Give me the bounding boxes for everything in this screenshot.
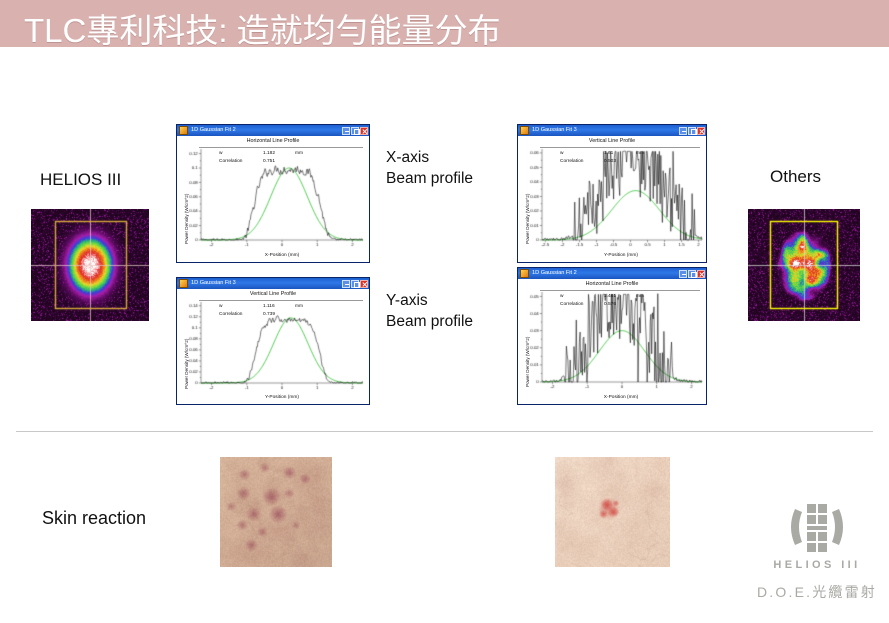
close-icon[interactable] [360, 280, 368, 288]
label-x-axis-profile-line2: Beam profile [386, 168, 473, 189]
stat-w-value: 1.116 [263, 304, 275, 309]
skin-photo-right [555, 457, 670, 567]
x-axis-label: X-Position (mm) [540, 395, 702, 400]
logo-text-secondary: D.O.E.光纜雷射 [745, 582, 889, 602]
stat-corr-label: Correlation [219, 312, 242, 317]
window-titlebar[interactable]: 1D Gaussian Fit 2 [177, 125, 369, 136]
window-buttons[interactable] [679, 127, 705, 135]
stat-w-value: 1.182 [263, 151, 275, 156]
section-divider [16, 431, 873, 432]
app-icon [520, 269, 529, 278]
stat-corr-label: Correlation [219, 159, 242, 164]
chart-area: Horizontal Line Profile w 1.182 mm Corre… [177, 136, 369, 262]
maximize-icon[interactable] [351, 127, 359, 135]
close-icon[interactable] [697, 127, 705, 135]
window-buttons[interactable] [679, 270, 705, 278]
chart-area: Vertical Line Profile w 1.116 mm Correla… [177, 289, 369, 404]
chart-area: Horizontal Line Profile w 1.481 mm Corre… [518, 279, 706, 404]
stat-w-label: w [219, 151, 222, 156]
maximize-icon[interactable] [688, 127, 696, 135]
window-title: 1D Gaussian Fit 3 [532, 125, 679, 136]
maximize-icon[interactable] [688, 270, 696, 278]
chart-window-bottom-right[interactable]: 1D Gaussian Fit 2 Horizontal Line Profil… [517, 267, 707, 405]
stat-corr-value: 0.576 [604, 302, 616, 307]
x-axis-label: Y-Position (mm) [199, 395, 365, 400]
minimize-icon[interactable] [342, 280, 350, 288]
beam-image-helios [31, 209, 149, 321]
stat-w-label: w [560, 294, 563, 299]
maximize-icon[interactable] [351, 280, 359, 288]
minimize-icon[interactable] [679, 127, 687, 135]
label-y-axis-profile-line1: Y-axis [386, 290, 428, 311]
stat-w-label: w [219, 304, 222, 309]
helios-mark-icon [745, 497, 889, 557]
window-title: 1D Gaussian Fit 3 [191, 278, 342, 289]
minimize-icon[interactable] [342, 127, 350, 135]
label-x-axis-profile-line1: X-axis [386, 147, 429, 168]
x-axis-label: Y-Position (mm) [540, 253, 702, 258]
x-axis-label: X-Position (mm) [199, 253, 365, 258]
stat-corr-value: 0.503 [604, 159, 616, 164]
app-icon [520, 126, 529, 135]
window-titlebar[interactable]: 1D Gaussian Fit 3 [177, 278, 369, 289]
beam-image-others [748, 209, 860, 321]
close-icon[interactable] [697, 270, 705, 278]
skin-photo-left [220, 457, 332, 567]
stat-w-label: w [560, 151, 563, 156]
helios-logo: HELIOS III D.O.E.光纜雷射 [745, 497, 889, 609]
stat-w-unit: mm [636, 294, 644, 299]
stat-corr-label: Correlation [560, 159, 583, 164]
label-helios: HELIOS III [40, 170, 121, 190]
stat-w-value: 1.481 [604, 294, 616, 299]
minimize-icon[interactable] [679, 270, 687, 278]
close-icon[interactable] [360, 127, 368, 135]
stat-w-unit: mm [636, 151, 644, 156]
slide-title-bar: TLC專利科技: 造就均勻能量分布 [0, 0, 889, 47]
y-axis-label: Power Density (W/cm^2) [525, 194, 530, 244]
stat-w-unit: mm [295, 304, 303, 309]
label-skin-reaction: Skin reaction [42, 508, 146, 529]
chart-area: Vertical Line Profile w 1.61 mm Correlat… [518, 136, 706, 262]
y-axis-label: Power Density (W/cm^2) [184, 339, 189, 389]
window-titlebar[interactable]: 1D Gaussian Fit 2 [518, 268, 706, 279]
chart-window-top-left[interactable]: 1D Gaussian Fit 2 Horizontal Line Profil… [176, 124, 370, 263]
stat-corr-label: Correlation [560, 302, 583, 307]
y-axis-label: Power Density (W/cm^2) [525, 337, 530, 387]
app-icon [179, 126, 188, 135]
stat-w-unit: mm [295, 151, 303, 156]
chart-window-bottom-left[interactable]: 1D Gaussian Fit 3 Vertical Line Profile … [176, 277, 370, 405]
logo-text-primary: HELIOS III [745, 559, 889, 571]
page-title: TLC專利科技: 造就均勻能量分布 [24, 4, 501, 52]
window-buttons[interactable] [342, 127, 368, 135]
stat-w-value: 1.61 [604, 151, 613, 156]
app-icon [179, 279, 188, 288]
label-y-axis-profile-line2: Beam profile [386, 311, 473, 332]
stat-corr-value: 0.751 [263, 159, 275, 164]
label-others: Others [770, 167, 821, 187]
chart-window-top-right[interactable]: 1D Gaussian Fit 3 Vertical Line Profile … [517, 124, 707, 263]
window-title: 1D Gaussian Fit 2 [532, 268, 679, 279]
window-buttons[interactable] [342, 280, 368, 288]
y-axis-label: Power Density (W/cm^2) [184, 194, 189, 244]
window-titlebar[interactable]: 1D Gaussian Fit 3 [518, 125, 706, 136]
window-title: 1D Gaussian Fit 2 [191, 125, 342, 136]
stat-corr-value: 0.739 [263, 312, 275, 317]
